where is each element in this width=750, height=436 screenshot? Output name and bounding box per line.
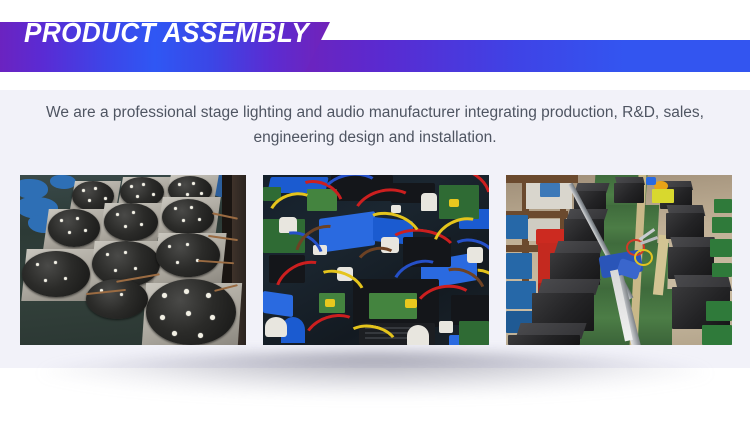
intro-line-1: We are a professional stage lighting and… [26,100,724,125]
led-dot [76,217,79,220]
speaker-housing [666,213,704,239]
photo-1-scene [20,175,246,345]
led-dot [184,289,189,294]
blue-bin [506,253,532,279]
green-pcb [712,217,732,233]
wiring-harness-photo[interactable] [263,175,489,345]
card-drop-shadow [40,352,710,396]
page-title-wrapper: PRODUCT ASSEMBLY [24,33,330,61]
led-dot [186,311,191,316]
led-disc [162,199,214,235]
led-dot [186,193,189,196]
led-dot [116,213,119,216]
white-connector [265,317,287,337]
led-dot [36,263,39,266]
led-dot [132,211,135,214]
led-dot [172,331,177,336]
led-dot [200,192,203,195]
led-dot [68,231,71,234]
led-dot [60,219,63,222]
tape-box [652,189,674,203]
led-dot [142,183,145,186]
led-dot [152,193,155,196]
white-connector [421,193,437,211]
led-disc [86,279,148,319]
led-dot [176,261,179,264]
banner-accent-bar [300,40,750,72]
led-dot [198,333,203,338]
led-dot [210,315,215,320]
photo-gallery [20,175,732,345]
led-dot [64,277,67,280]
speaker-housing [614,183,644,203]
led-dot [136,195,139,198]
led-disc [48,209,100,247]
led-disc [104,203,158,241]
product-assembly-card: PRODUCT ASSEMBLY We are a professional s… [0,0,750,368]
led-dot [198,218,201,221]
led-dot [186,243,189,246]
photo-2-scene [263,175,489,345]
led-dot [88,199,91,202]
led-dot [140,223,143,226]
scissors-yellow-handle [634,249,653,266]
shelf-rack [506,175,578,183]
green-pcb [702,325,732,345]
led-dot [182,219,185,222]
blue-bin [540,183,560,197]
led-dot [94,187,97,190]
assembly-line-photo[interactable] [506,175,732,345]
blue-bin [506,215,528,239]
blue-object [20,179,48,199]
section-banner: PRODUCT ASSEMBLY [0,0,750,90]
led-dot [130,185,133,188]
led-dot [206,293,211,298]
led-dot [168,245,171,248]
blue-object [50,175,76,189]
green-pcb [710,239,732,257]
led-dot [44,279,47,282]
intro-paragraph: We are a professional stage lighting and… [26,100,724,150]
led-dot [192,182,195,185]
led-dot [160,315,165,320]
led-dot [104,197,107,200]
blue-item [646,177,656,185]
led-dot [178,183,181,186]
speaker-housing [508,335,580,345]
led-disc [156,233,220,277]
led-dot [106,253,109,256]
led-dot [190,206,193,209]
green-pcb [712,263,732,277]
led-dot [124,225,127,228]
led-pcb-boards-photo[interactable] [20,175,246,345]
led-dot [174,207,177,210]
banner-title-plate: PRODUCT ASSEMBLY [0,22,330,72]
led-dot [120,293,123,296]
led-dot [84,229,87,232]
green-pcb [706,301,732,321]
green-pcb [714,199,732,213]
intro-line-2: engineering design and installation. [26,125,724,150]
led-dot [162,293,167,298]
led-dot [114,269,117,272]
photo-3-scene [506,175,732,345]
page-title: PRODUCT ASSEMBLY [24,22,309,47]
led-dot [124,251,127,254]
led-dot [82,189,85,192]
led-dot [54,261,57,264]
led-disc [22,251,90,297]
led-dot [134,267,137,270]
